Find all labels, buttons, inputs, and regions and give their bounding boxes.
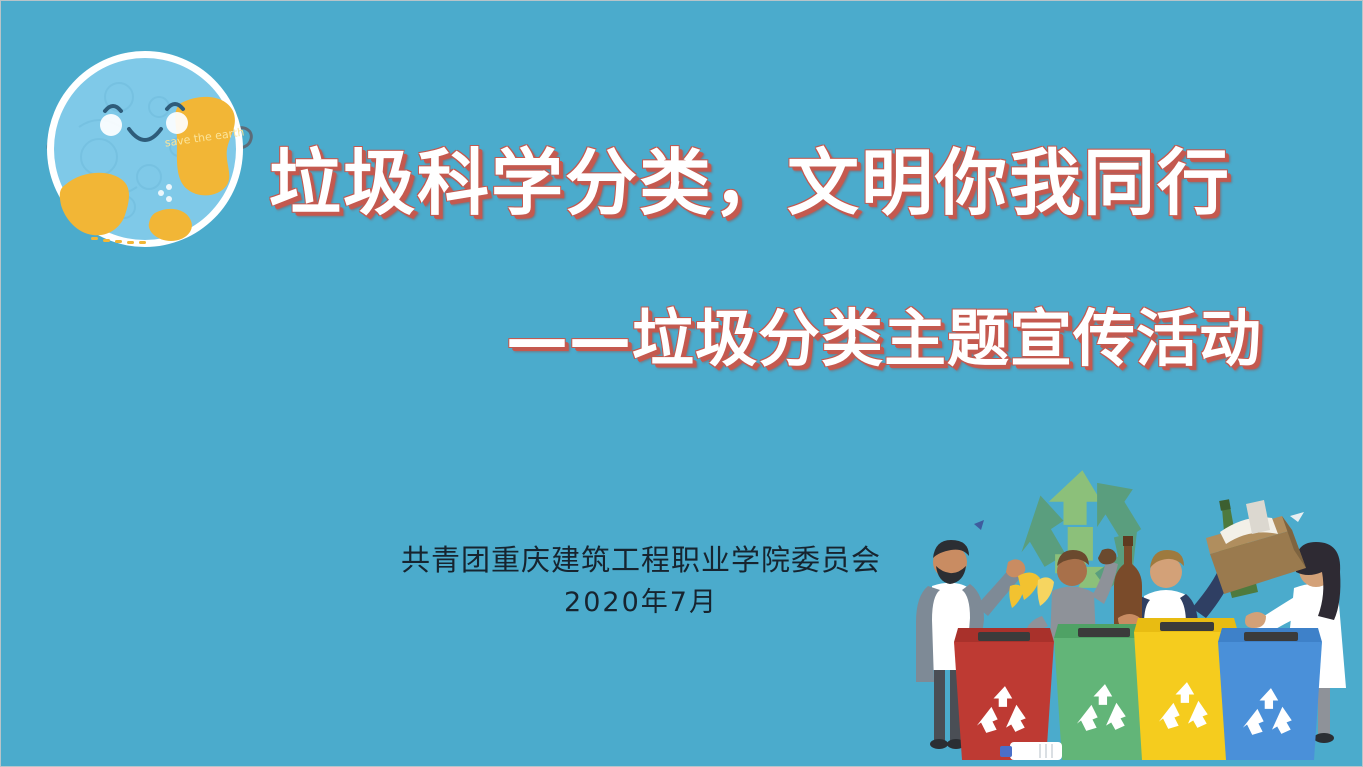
save-the-earth-globe-logo: save the earth (29, 37, 261, 259)
floating-scrap-blue (974, 520, 984, 530)
green-bottle-cap (1219, 499, 1231, 511)
footer-block: 共青团重庆建筑工程职业学院委员会 2020年7月 (331, 539, 951, 625)
cardboard-box (1206, 500, 1306, 594)
bin-red-slot (978, 632, 1030, 641)
person4-shoe-right (1314, 733, 1334, 743)
bin-blue (1218, 628, 1322, 760)
globe-cheek-right (166, 112, 188, 134)
presentation-date: 2020年7月 (331, 581, 951, 625)
organization-name: 共青团重庆建筑工程职业学院委员会 (331, 539, 951, 581)
banana-peel-3 (1009, 585, 1024, 608)
bin-blue-slot (1244, 632, 1298, 641)
floating-scrap-white-3 (1290, 512, 1304, 522)
person1-shoe-left (930, 739, 948, 749)
page-subtitle: ——垃圾分类主题宣传活动 (506, 308, 1262, 370)
person2-hand (1098, 549, 1116, 565)
plastic-bottle-cap (1000, 746, 1012, 757)
bin-yellow-slot (1160, 622, 1214, 631)
banana-peel-2 (1037, 577, 1054, 606)
person1-leg-left (934, 661, 945, 741)
bin-green-slot (1078, 628, 1130, 637)
plastic-bottle-body (1010, 742, 1062, 760)
presentation-slide: save the earth 垃圾科学分类，文明你我同行 ——垃 (0, 0, 1363, 767)
brown-bottle-cap (1123, 536, 1133, 546)
globe-cheek-left (100, 114, 122, 136)
bin-red (954, 628, 1054, 760)
page-title: 垃圾科学分类，文明你我同行 (269, 147, 1231, 219)
waste-sorting-illustration (892, 446, 1362, 766)
